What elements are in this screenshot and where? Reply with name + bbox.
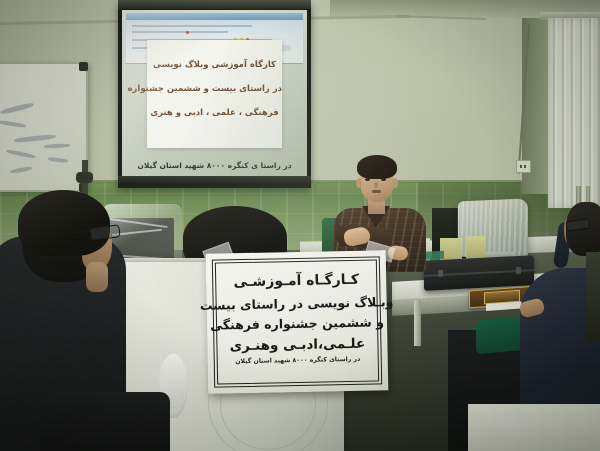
- attendee-left-chair: [40, 392, 170, 451]
- presenter-eyebrow: [364, 173, 371, 175]
- whiteboard-writing: [0, 102, 34, 115]
- attendee-far-right: [586, 252, 600, 342]
- desk-item-box: [466, 236, 486, 260]
- presenter-ear: [392, 178, 398, 188]
- outlet-slot: [524, 165, 526, 168]
- attendee-left-hair: [18, 190, 110, 256]
- whiteboard-writing: [44, 143, 70, 148]
- presenter-mouth: [372, 190, 381, 193]
- whiteboard-writing: [10, 166, 32, 174]
- attendee-left-hand: [86, 262, 108, 292]
- presenter-eye: [381, 178, 386, 181]
- poster-line-2: وبـلاگ نویسی در راستای بیست: [200, 295, 394, 315]
- projected-slide-line-2: در راستای بیست و ششمین جشنواره: [147, 84, 282, 94]
- poster-line-3: و ششمین جشنواره فرهنگی: [210, 314, 384, 334]
- poster-line-4: علـمی،ادبـی وهنـری: [230, 336, 366, 356]
- poster-text-block: کـارگـاه آمـوزشـی وبـلاگ نویسی در راستای…: [218, 265, 376, 382]
- bag-buckle: [438, 270, 443, 277]
- outlet-slot: [520, 165, 522, 168]
- whiteboard: [0, 62, 88, 192]
- projected-toolbar-icon: [186, 31, 189, 34]
- desk-leg: [414, 300, 421, 346]
- projected-banner-line: در راستا ی کنگره ۸۰۰۰ شهید استان گیلان: [122, 161, 307, 170]
- wall-outlet: [516, 160, 531, 173]
- laptop-bag: [424, 255, 534, 291]
- printed-poster: کـارگـاه آمـوزشـی وبـلاگ نویسی در راستای…: [206, 250, 389, 393]
- poster-line-1: کـارگـاه آمـوزشـی: [233, 271, 359, 292]
- presenter-eye: [365, 178, 370, 181]
- bag-buckle: [516, 267, 521, 274]
- whiteboard-writing: [14, 134, 56, 143]
- presenter-eyebrow: [380, 173, 387, 175]
- whiteboard-writing: [48, 157, 68, 163]
- projected-slide-line-1: کارگاه آموزشی وبلاگ نویسی: [147, 60, 282, 70]
- projection-screen-bottom-bar: [118, 176, 311, 186]
- presenter-ear: [356, 178, 362, 188]
- projection-screen-roller: [118, 0, 311, 9]
- projected-slide-document: کارگاه آموزشی وبلاگ نویسی در راستای بیست…: [147, 40, 282, 148]
- projected-toolbar-row: [132, 25, 252, 27]
- whiteboard-writing: [0, 120, 26, 128]
- classroom-photo: کارگاه آموزشی وبلاگ نویسی در راستای بیست…: [0, 0, 600, 451]
- whiteboard-stand-knob: [76, 172, 93, 183]
- presenter-hair: [357, 155, 397, 179]
- projected-toolbar-row: [132, 31, 228, 33]
- projected-window-titlebar: [126, 13, 303, 20]
- vertical-blinds: [548, 18, 600, 208]
- foreground-table: [468, 404, 600, 451]
- poster-footer-line: در راستای کنگره ۸۰۰۰ شهید استان گیلان: [235, 356, 360, 365]
- projected-slide-line-3: فرهنگی ، علمی ، ادبی و هنری: [147, 108, 282, 118]
- presenter-nose: [374, 182, 378, 188]
- projection-screen-surface: کارگاه آموزشی وبلاگ نویسی در راستای بیست…: [122, 10, 307, 176]
- whiteboard-corner-bracket: [79, 62, 88, 71]
- whiteboard-writing: [6, 149, 36, 159]
